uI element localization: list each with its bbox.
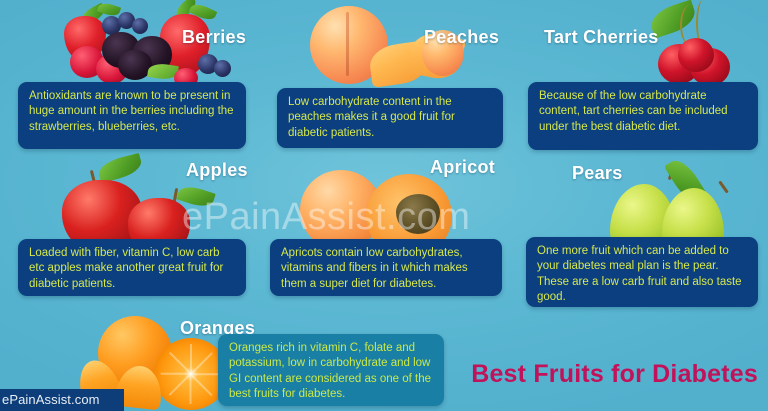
page-title: Best Fruits for Diabetes [471,360,758,389]
callout-berries: Antioxidants are known to be present in … [18,82,246,149]
tart-cherries-photo [640,0,768,90]
heading-apricot: Apricot [430,157,495,178]
site-logo-text: ePainAssist.com [2,392,100,407]
heading-pears: Pears [572,163,623,184]
heading-tart-cherries: Tart Cherries [544,27,659,48]
heading-berries: Berries [182,27,246,48]
infographic-canvas: Berries Antioxidants are known to be pre… [0,0,768,411]
callout-apricot: Apricots contain low carbohydrates, vita… [270,239,502,296]
callout-oranges: Oranges rich in vitamin C, folate and po… [218,334,444,406]
callout-peaches: Low carbohydrate content in the peaches … [277,88,503,148]
heading-apples: Apples [186,160,248,181]
callout-apples: Loaded with fiber, vitamin C, low carb e… [18,239,246,296]
callout-pears: One more fruit which can be added to you… [526,237,758,307]
heading-peaches: Peaches [424,27,499,48]
site-logo-bar[interactable]: ePainAssist.com [0,389,124,411]
callout-tart-cherries: Because of the low carbohydrate content,… [528,82,758,150]
